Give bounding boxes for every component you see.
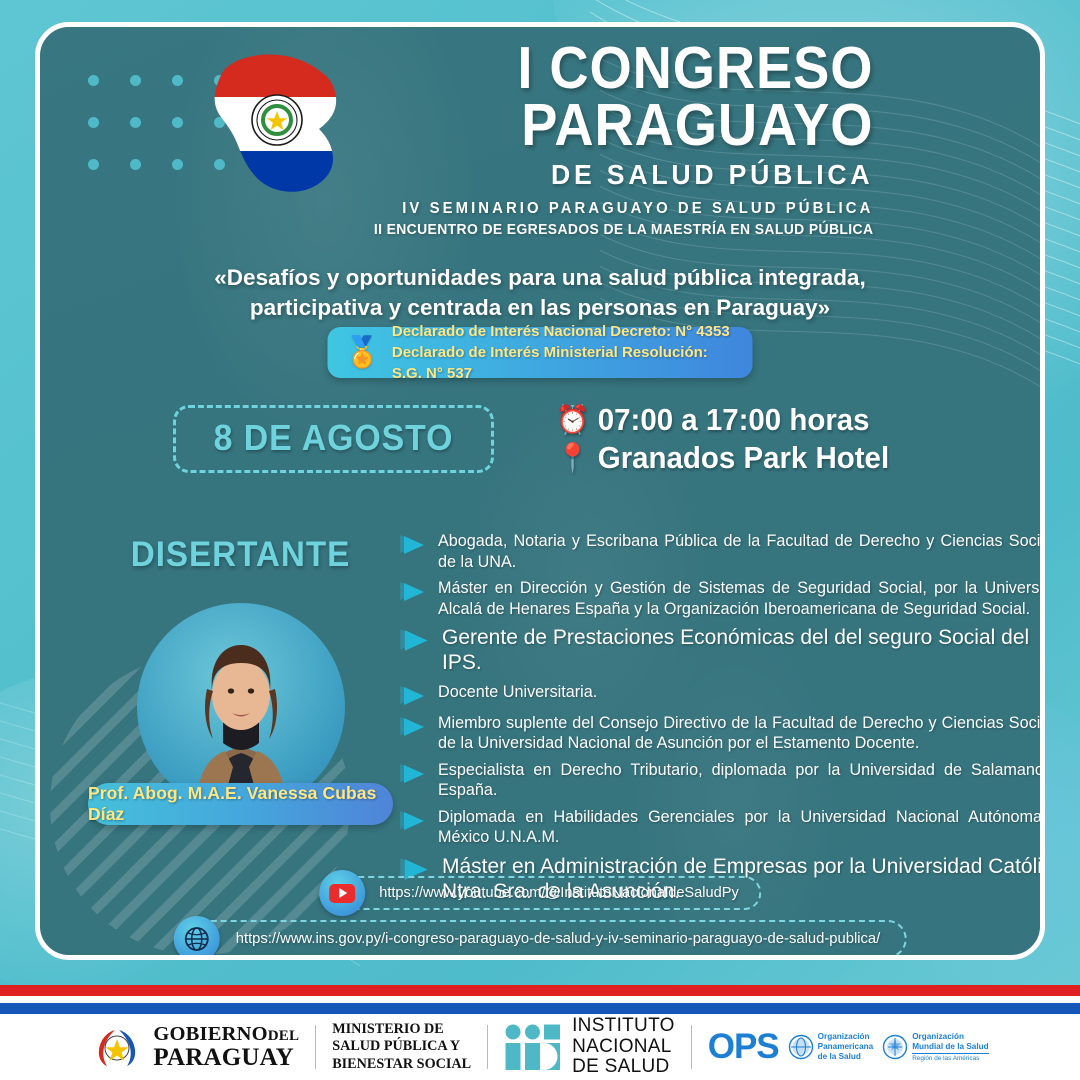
youtube-url-pill[interactable]: https://www.youtube.com/@InstitutoNacion… bbox=[331, 876, 761, 910]
decree-national: Declarado de Interés Nacional Decreto: N… bbox=[392, 321, 737, 342]
paho-line3: de la Salud bbox=[818, 1052, 874, 1062]
who-text: Organización Mundial de la Salud Región … bbox=[912, 1032, 988, 1061]
ministerio-line1: MINISTERIO DE bbox=[332, 1021, 471, 1038]
event-time-row: ⏰ 07:00 a 17:00 horas bbox=[556, 402, 889, 438]
footer-divider bbox=[315, 1025, 316, 1069]
credential-item: Docente Universitaria. bbox=[398, 682, 1045, 707]
website-url: https://www.ins.gov.py/i-congreso-paragu… bbox=[236, 931, 881, 947]
credential-item: Abogada, Notaria y Escribana Pública de … bbox=[398, 531, 1045, 572]
title-block: I CONGRESO PARAGUAYO DE SALUD PÚBLICA IV… bbox=[353, 41, 873, 238]
website-url-pill[interactable]: https://www.ins.gov.py/i-congreso-paragu… bbox=[182, 920, 907, 958]
footer-logo-bar: GOBIERNODEL PARAGUAY MINISTERIO DE SALUD… bbox=[0, 1014, 1080, 1080]
gobierno-line1: GOBIERNO bbox=[153, 1023, 267, 1045]
ins-logo: INSTITUTO NACIONAL DE SALUD bbox=[504, 1016, 675, 1078]
event-details-row: 8 DE AGOSTO ⏰ 07:00 a 17:00 horas 📍 Gran… bbox=[40, 402, 1040, 476]
credential-text: Máster en Dirección y Gestión de Sistema… bbox=[438, 578, 1045, 619]
event-venue: Granados Park Hotel bbox=[598, 440, 889, 476]
ins-line2: NACIONAL bbox=[572, 1037, 675, 1058]
speaker-nameplate: Prof. Abog. M.A.E. Vanessa Cubas Díaz bbox=[88, 783, 393, 825]
arrow-bullet-icon bbox=[398, 685, 427, 707]
flag-stripe-blue bbox=[0, 1003, 1080, 1014]
paho-text: Organización Panamericana de la Salud bbox=[818, 1032, 874, 1061]
speaker-name: Prof. Abog. M.A.E. Vanessa Cubas Díaz bbox=[88, 783, 393, 825]
credential-text: Miembro suplente del Consejo Directivo d… bbox=[438, 713, 1045, 754]
poster-root: I CONGRESO PARAGUAYO DE SALUD PÚBLICA IV… bbox=[0, 0, 1080, 1080]
decree-text: Declarado de Interés Nacional Decreto: N… bbox=[392, 321, 737, 385]
speaker-credentials-list: Abogada, Notaria y Escribana Pública de … bbox=[398, 531, 1045, 910]
credential-item: Diplomada en Habilidades Gerenciales por… bbox=[398, 807, 1045, 848]
event-venue-row: 📍 Granados Park Hotel bbox=[556, 440, 889, 476]
theme-line-1: «Desafíos y oportunidades para una salud… bbox=[40, 263, 1040, 293]
speaker-photo bbox=[137, 603, 345, 811]
ins-wordmark: INSTITUTO NACIONAL DE SALUD bbox=[572, 1016, 675, 1078]
who-emblem-icon bbox=[882, 1034, 908, 1060]
gobierno-paraguay-logo: GOBIERNODEL PARAGUAY bbox=[91, 1022, 299, 1072]
congress-theme: «Desafíos y oportunidades para una salud… bbox=[40, 263, 1040, 322]
arrow-bullet-icon bbox=[398, 628, 431, 653]
paho-line2: Panamericana bbox=[818, 1042, 874, 1052]
ministerio-line3: BIENESTAR SOCIAL bbox=[332, 1056, 471, 1073]
arrow-bullet-icon bbox=[398, 716, 427, 738]
location-pin-icon: 📍 bbox=[556, 442, 588, 474]
theme-line-2: participativa y centrada en las personas… bbox=[40, 293, 1040, 323]
arrow-bullet-icon bbox=[398, 810, 427, 832]
arrow-bullet-icon bbox=[398, 763, 427, 785]
coat-of-arms-icon bbox=[91, 1022, 143, 1072]
clock-icon: ⏰ bbox=[556, 404, 588, 436]
title-line-2: PARAGUAYO bbox=[394, 96, 873, 155]
poster-header: I CONGRESO PARAGUAYO DE SALUD PÚBLICA IV… bbox=[40, 35, 1040, 238]
credential-text: Gerente de Prestaciones Económicas del d… bbox=[442, 625, 1045, 675]
decree-banner: 🏅 Declarado de Interés Nacional Decreto:… bbox=[328, 327, 753, 378]
who-line2: Mundial de la Salud bbox=[912, 1042, 988, 1052]
decree-ministerial: Declarado de Interés Ministerial Resoluc… bbox=[392, 342, 737, 385]
youtube-url: https://www.youtube.com/@InstitutoNacion… bbox=[379, 885, 739, 901]
paho-line1: Organización bbox=[818, 1032, 874, 1042]
paho-globe-icon bbox=[788, 1034, 814, 1060]
ops-paho-logo: OPS Organización Panamericana de la Salu… bbox=[708, 1027, 989, 1067]
who-sub: Región de las Américas bbox=[912, 1053, 988, 1062]
credential-text: Abogada, Notaria y Escribana Pública de … bbox=[438, 531, 1045, 572]
speaker-label: DISERTANTE bbox=[96, 535, 386, 575]
speaker-portrait-illustration bbox=[137, 603, 345, 811]
paho-lockup: Organización Panamericana de la Salud bbox=[788, 1032, 874, 1061]
footer-divider bbox=[487, 1025, 488, 1069]
event-time: 07:00 a 17:00 horas bbox=[598, 402, 870, 438]
who-lockup: Organización Mundial de la Salud Región … bbox=[882, 1032, 988, 1061]
credential-item: Especialista en Derecho Tributario, dipl… bbox=[398, 760, 1045, 801]
credential-item: Miembro suplente del Consejo Directivo d… bbox=[398, 713, 1045, 754]
ins-mark-icon bbox=[504, 1024, 562, 1070]
event-date: 8 DE AGOSTO bbox=[214, 417, 454, 459]
subtitle-encuentro: II ENCUENTRO DE EGRESADOS DE LA MAESTRÍA… bbox=[374, 222, 874, 238]
event-date-box: 8 DE AGOSTO bbox=[173, 405, 494, 473]
footer-divider bbox=[691, 1025, 692, 1069]
arrow-bullet-icon bbox=[398, 581, 427, 603]
credential-text: Docente Universitaria. bbox=[438, 682, 1045, 703]
credential-item: Máster en Dirección y Gestión de Sistema… bbox=[398, 578, 1045, 619]
ministerio-line2: SALUD PÚBLICA Y bbox=[332, 1038, 471, 1055]
globe-icon bbox=[174, 916, 220, 960]
credential-item: Gerente de Prestaciones Económicas del d… bbox=[398, 625, 1045, 675]
who-line1: Organización bbox=[912, 1032, 988, 1042]
arrow-bullet-icon bbox=[398, 534, 427, 556]
ops-wordmark: OPS bbox=[708, 1027, 779, 1067]
youtube-icon bbox=[319, 870, 365, 916]
gobierno-wordmark: GOBIERNODEL PARAGUAY bbox=[153, 1024, 299, 1070]
ins-line1: INSTITUTO bbox=[572, 1016, 675, 1037]
title-line-1: I CONGRESO bbox=[394, 41, 873, 96]
medal-icon: 🏅 bbox=[344, 338, 381, 368]
website-link-row[interactable]: https://www.ins.gov.py/i-congreso-paragu… bbox=[174, 916, 907, 960]
title-line-3: DE SALUD PÚBLICA bbox=[379, 159, 873, 191]
youtube-link-row[interactable]: https://www.youtube.com/@InstitutoNacion… bbox=[319, 870, 761, 916]
ministerio-salud-logo: MINISTERIO DE SALUD PÚBLICA Y BIENESTAR … bbox=[332, 1021, 471, 1073]
flag-stripe-white bbox=[0, 996, 1080, 1003]
ins-line3: DE SALUD bbox=[572, 1057, 675, 1078]
paraguay-flag-map-icon bbox=[207, 41, 357, 201]
poster-frame: I CONGRESO PARAGUAYO DE SALUD PÚBLICA IV… bbox=[35, 22, 1045, 960]
subtitle-seminario: IV SEMINARIO PARAGUAYO DE SALUD PÚBLICA bbox=[374, 200, 874, 218]
credential-text: Especialista en Derecho Tributario, dipl… bbox=[438, 760, 1045, 801]
credential-text: Diplomada en Habilidades Gerenciales por… bbox=[438, 807, 1045, 848]
flag-stripe-red bbox=[0, 985, 1080, 996]
gobierno-line2: PARAGUAY bbox=[153, 1045, 299, 1070]
gobierno-del: DEL bbox=[268, 1028, 299, 1044]
event-time-venue: ⏰ 07:00 a 17:00 horas 📍 Granados Park Ho… bbox=[556, 402, 907, 476]
